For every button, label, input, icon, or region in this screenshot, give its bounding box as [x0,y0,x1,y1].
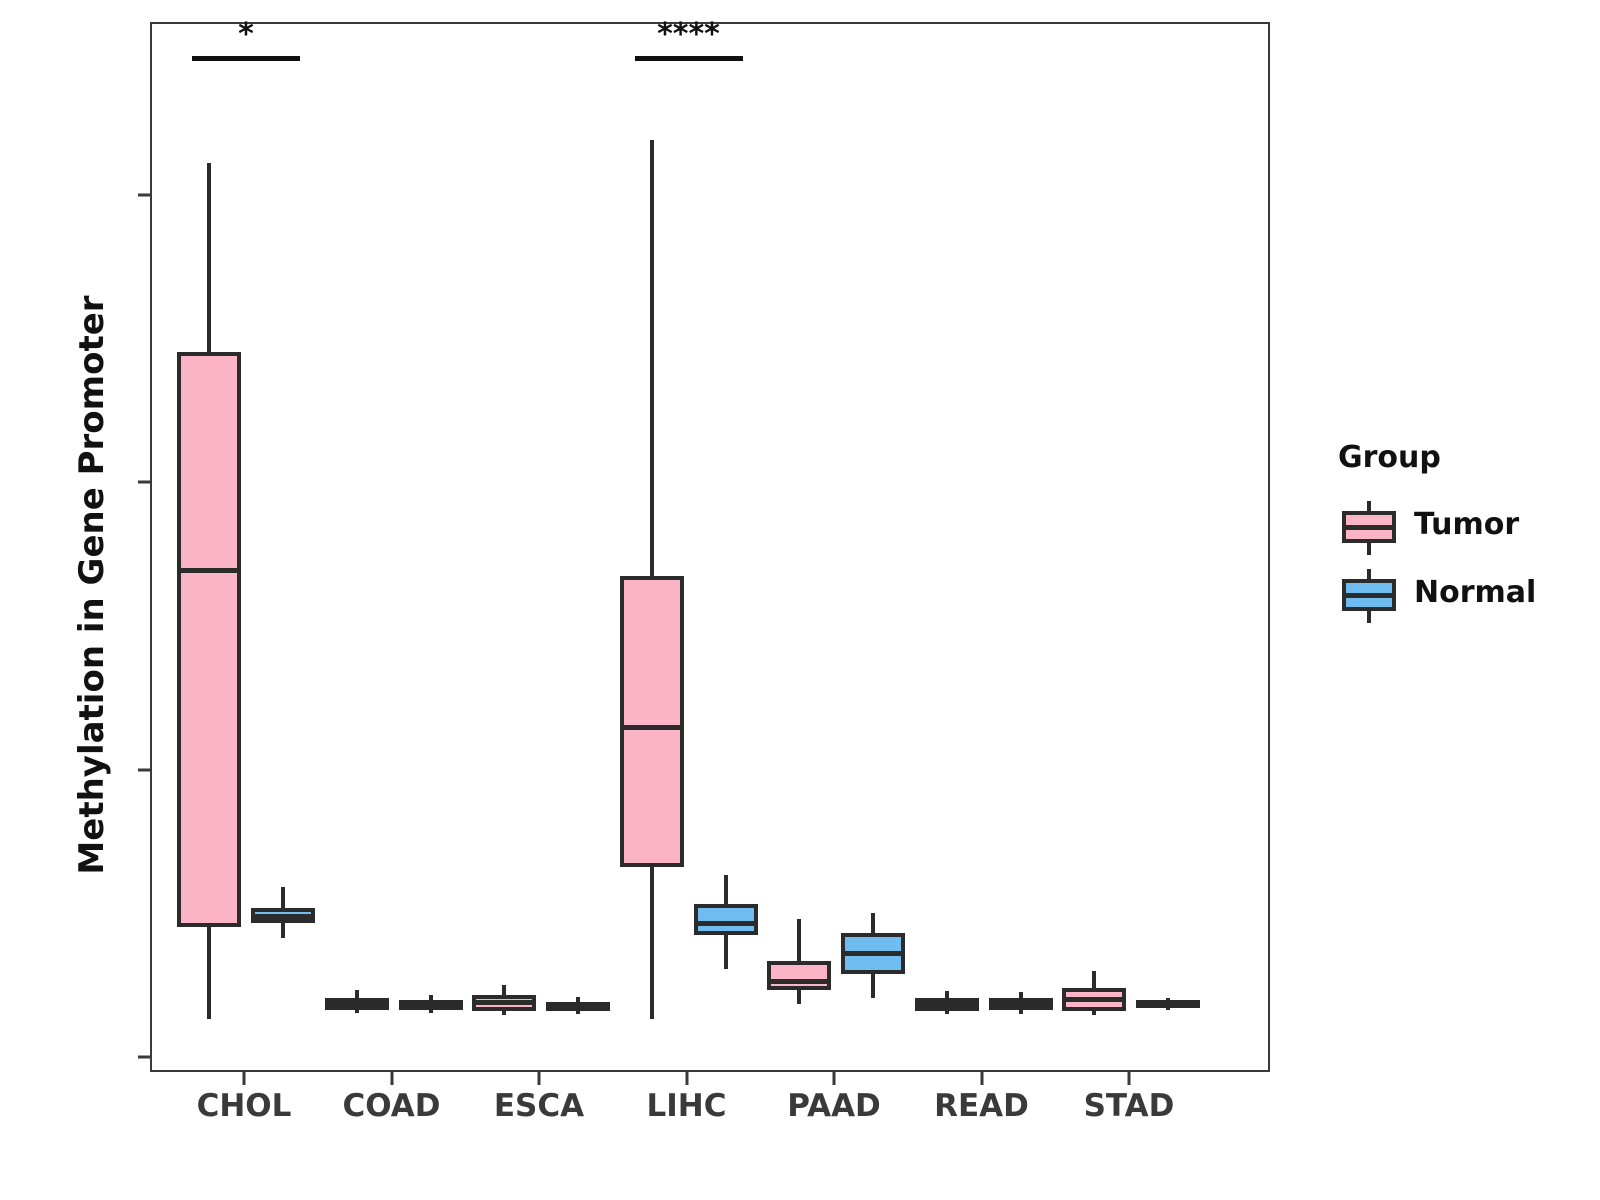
whisker-lower [502,1011,506,1016]
x-axis-tick-mark [243,1072,246,1085]
legend-key-normal-icon [1342,569,1396,621]
significance-bracket-lihc [635,56,743,61]
chart-root: Methylation in Gene Promoter 0.000.250.5… [0,0,1600,1200]
whisker-lower [207,927,211,1019]
x-axis-tick-label-lihc: LIHC [647,1088,727,1124]
x-axis-tick-label-stad: STAD [1084,1088,1175,1124]
median-line [325,1001,389,1006]
y-axis-title: Methylation in Gene Promoter [72,245,112,925]
x-axis-tick-mark [833,1072,836,1085]
median-line [1136,1001,1200,1006]
whisker-upper [1092,971,1096,988]
whisker-lower [355,1010,359,1013]
whisker-upper [724,875,728,904]
whisker-lower [724,935,728,969]
legend-item-normal[interactable]: Normal [1336,565,1586,625]
x-axis-tick-label-chol: CHOL [197,1088,292,1124]
median-line [1062,997,1126,1002]
x-axis-tick-mark [538,1072,541,1085]
y-axis-tick-mark [138,768,150,771]
whisker-upper [945,991,949,998]
x-axis-tick-label-read: READ [934,1088,1029,1124]
whisker-upper [281,887,285,909]
legend-label-tumor: Tumor [1414,507,1519,542]
whisker-lower [281,923,285,938]
significance-bracket-chol [192,56,300,61]
box-lihc-normal[interactable] [694,904,758,935]
plot-panel: ***** [150,22,1270,1072]
whisker-lower [1092,1011,1096,1016]
median-line [694,921,758,926]
x-axis-tick-label-paad: PAAD [787,1088,881,1124]
x-axis-tick-label-esca: ESCA [494,1088,584,1124]
median-line [472,1000,536,1005]
median-line [620,725,684,730]
whisker-lower [871,974,875,998]
whisker-upper [207,163,211,353]
whisker-lower [429,1010,433,1013]
median-line [546,1004,610,1009]
whisker-upper [650,140,654,577]
whisker-lower [797,990,801,1004]
plot-area: ***** [152,24,1268,1070]
whisker-upper [797,919,801,962]
median-line [841,951,905,956]
significance-label-chol: * [238,20,254,50]
median-line [399,1002,463,1007]
median-line [767,979,831,984]
whisker-lower [1019,1010,1023,1015]
legend-label-normal: Normal [1414,575,1536,610]
x-axis-tick-mark [685,1072,688,1085]
y-axis-tick-mark [138,1056,150,1059]
box-paad-tumor[interactable] [767,961,831,990]
y-axis-tick-mark [138,194,150,197]
box-chol-tumor[interactable] [177,352,241,927]
legend: Group Tumor Normal [1336,440,1586,633]
legend-key-tumor-icon [1342,501,1396,553]
median-line [251,914,315,919]
x-axis-tick-label-coad: COAD [343,1088,441,1124]
x-axis-tick-mark [390,1072,393,1085]
x-axis-tick-mark [1128,1072,1131,1085]
whisker-lower [650,867,654,1019]
whisker-lower [945,1011,949,1014]
whisker-upper [355,990,359,998]
legend-title: Group [1338,440,1586,475]
significance-label-lihc: **** [657,20,720,50]
whisker-upper [502,985,506,994]
whisker-lower [576,1011,580,1014]
median-line [177,568,241,573]
legend-item-tumor[interactable]: Tumor [1336,497,1586,557]
whisker-upper [871,913,875,933]
y-axis-tick-mark [138,481,150,484]
x-axis-tick-mark [980,1072,983,1085]
median-line [989,1001,1053,1006]
median-line [915,1002,979,1007]
box-lihc-tumor[interactable] [620,576,684,867]
